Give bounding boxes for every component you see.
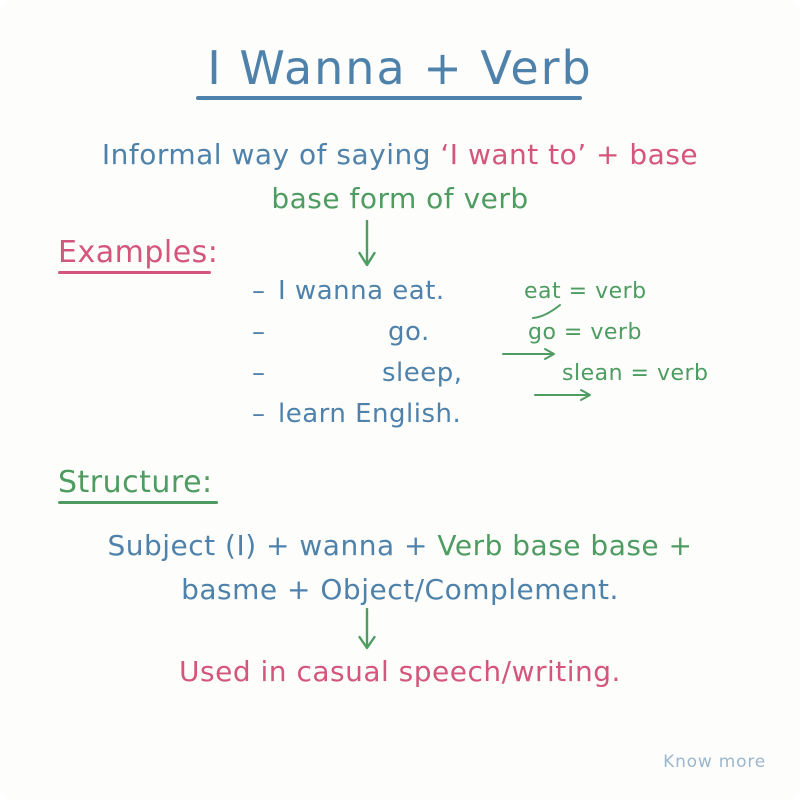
examples-heading-underline (58, 271, 211, 274)
down-arrow-icon-bottom (352, 608, 382, 654)
example-note-1: eat = verb (524, 273, 647, 311)
list-item: – I wanna eat. eat = verb (252, 272, 772, 313)
examples-heading: Examples: (58, 236, 218, 270)
example-note-3: slean = verb (562, 355, 709, 393)
example-phrase-1: I wanna eat. (278, 272, 445, 310)
example-bullet-4: – (252, 395, 266, 433)
example-phrase-2: go. (388, 313, 430, 351)
example-bullet-3: – (252, 354, 266, 392)
infographic-card: I Wanna + Verb Informal way of saying ‘I… (0, 0, 800, 800)
title-container: I Wanna + Verb (0, 44, 800, 92)
example-phrase-4: learn English. (278, 395, 461, 433)
examples-heading-container: Examples: (58, 236, 218, 274)
subtitle-text-i-want-to: ‘I want to’ + base (440, 138, 698, 171)
structure-heading: Structure: (58, 466, 213, 500)
example-bullet-2: – (252, 313, 266, 351)
structure-heading-underline (58, 501, 218, 504)
subtitle-text-informal: Informal way of saying (102, 138, 441, 171)
title-underline (196, 96, 582, 100)
example-phrase-3: sleep, (382, 354, 463, 392)
examples-list: – I wanna eat. eat = verb – go. go = ver… (252, 272, 772, 436)
structure-heading-container: Structure: (58, 466, 218, 504)
conclusion-container: Used in casual speech/writing. (0, 652, 800, 692)
down-arrow-icon-top (352, 220, 382, 272)
structure-line-1: Subject (I) + wanna + Verb base base + (0, 524, 800, 568)
subtitle-container: Informal way of saying ‘I want to’ + bas… (0, 133, 800, 221)
structure-container: Subject (I) + wanna + Verb base base + b… (0, 524, 800, 612)
subtitle-line-1: Informal way of saying ‘I want to’ + bas… (0, 133, 800, 177)
example-bullet-1: – (252, 272, 266, 310)
structure-line-2: basme + Object/Complement. (0, 568, 800, 612)
list-item: – sleep, slean = verb (252, 354, 772, 395)
know-more-link[interactable]: Know more (663, 752, 766, 772)
list-item: – go. go = verb (252, 313, 772, 354)
page-title: I Wanna + Verb (207, 44, 593, 92)
conclusion-text: Used in casual speech/writing. (179, 655, 621, 688)
structure-text-verb-base: Verb base base + (437, 529, 692, 562)
example-note-2: go = verb (528, 314, 642, 352)
structure-text-subject: Subject (I) + wanna + (107, 529, 437, 562)
subtitle-line-2: base form of verb (0, 177, 800, 221)
list-item: – learn English. (252, 395, 772, 436)
